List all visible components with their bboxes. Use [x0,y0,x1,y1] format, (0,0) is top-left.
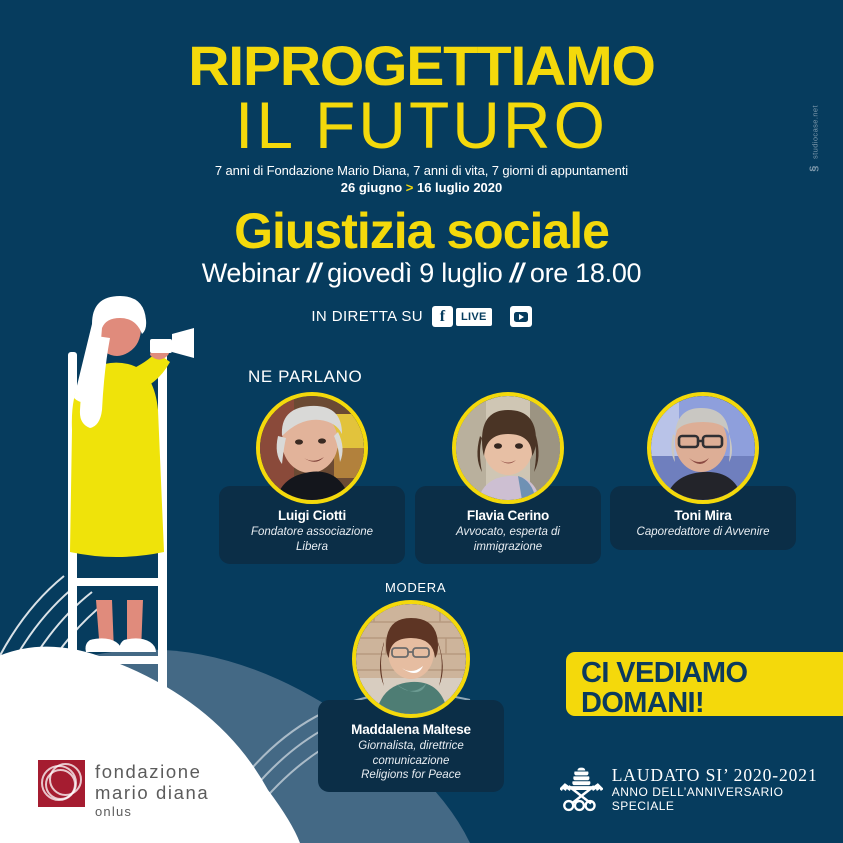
headline-dates: 26 giugno > 16 luglio 2020 [0,180,843,195]
speaker-name: Luigi Ciotti [225,508,399,524]
moderator-section-label: MODERA [385,580,446,595]
foundation-text-block: fondazione mario diana onlus [95,760,209,819]
foundation-line1: fondazione [95,761,209,782]
facebook-live-badge[interactable]: f LIVE [432,306,492,327]
date-end: 16 luglio 2020 [413,180,502,195]
laudato-si-block: LAUDATO SI’ 2020-2021 ANNO DELL’ANNIVERS… [560,765,843,814]
photo-maddalena-maltese [352,600,470,718]
live-pill-label: LIVE [456,308,492,326]
live-label: IN DIRETTA SU [311,308,423,325]
headline-line2: IL FUTURO [0,92,843,158]
speaker-name: Flavia Cerino [421,508,595,524]
laudato-title: LAUDATO SI’ 2020-2021 [612,765,843,785]
date-start: 26 giugno [341,180,406,195]
speaker-role: Fondatore associazione Libera [225,525,399,554]
when-middle: giovedì 9 luglio [320,258,510,288]
speaker-role: Caporedattore di Avvenire [616,525,790,539]
youtube-play-triangle [519,314,524,320]
photo-flavia-cerino [452,392,564,504]
poster-canvas: § studiocase.net RIPROGETTIAMO IL FUTURO… [0,0,843,843]
speaker-card: Toni Mira Caporedattore di Avvenire [610,392,796,550]
headline-tagline: 7 anni di Fondazione Mario Diana, 7 anni… [0,163,843,178]
laudato-subtitle: ANNO DELL’ANNIVERSARIO SPECIALE [612,786,843,814]
when-suffix: ore 18.00 [523,258,642,288]
when-prefix: Webinar [202,258,307,288]
event-topic: Giustizia sociale [0,205,843,258]
youtube-icon[interactable] [510,306,532,327]
moderator-name: Maddalena Maltese [324,722,498,738]
cta-banner: CI VEDIAMO DOMANI! [566,652,843,716]
when-separator-1: // [307,258,320,288]
moderator-role: Giornalista, direttrice comunicazione Re… [324,739,498,782]
live-channels-row: IN DIRETTA SU f LIVE [0,306,843,327]
speaker-card: Luigi Ciotti Fondatore associazione Libe… [219,392,405,564]
laudato-text-block: LAUDATO SI’ 2020-2021 ANNO DELL’ANNIVERS… [612,765,843,814]
facebook-icon[interactable]: f [432,306,453,327]
speakers-section-label: NE PARLANO [248,367,362,387]
event-when: Webinar // giovedì 9 luglio // ore 18.00 [0,258,843,289]
speaker-card: Flavia Cerino Avvocato, esperta di immig… [415,392,601,564]
foundation-mark-icon [38,760,85,807]
photo-toni-mira [647,392,759,504]
moderator-card: Maddalena Maltese Giornalista, direttric… [318,600,504,792]
speaker-name: Toni Mira [616,508,790,524]
when-separator-2: // [510,258,523,288]
foundation-line3: onlus [95,804,209,820]
foundation-line2: mario diana [95,782,209,803]
headline-line1: RIPROGETTIAMO [0,38,843,94]
photo-luigi-ciotti [256,392,368,504]
foundation-logo: fondazione mario diana onlus [38,760,209,819]
papal-keys-emblem [560,766,603,812]
speaker-role: Avvocato, esperta di immigrazione [421,525,595,554]
youtube-icon-body [514,312,528,322]
cta-text: CI VEDIAMO DOMANI! [581,659,843,719]
